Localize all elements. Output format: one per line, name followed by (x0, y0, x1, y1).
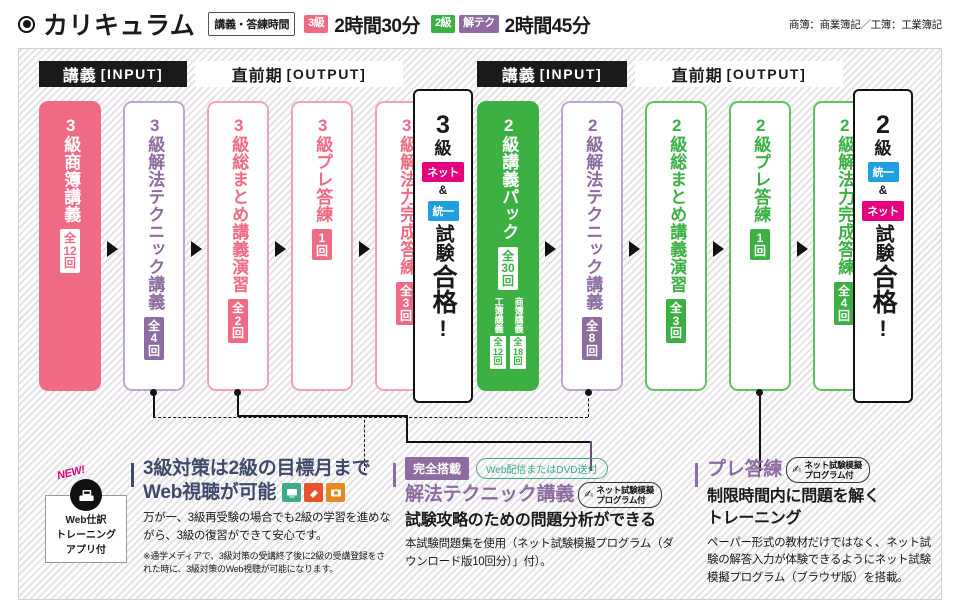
tag-row: 完全搭載 Web配信またはDVD送付 (405, 457, 683, 480)
badge-top: 全 (231, 302, 245, 315)
column-note: ※通学メディアで、3級対策の受講終了後に2級の受講登録をされた時に、3級対策のW… (143, 550, 393, 577)
card-2kyu-kaihou-technique[interactable]: 2級解法テクニック講義 全 8 回 (561, 101, 623, 391)
arrow-icon (107, 241, 118, 257)
bottom-column-web-viewing: 3級対策は2級の目標月まで Web視聴が可能 (131, 457, 393, 577)
goal-exam-label: 試験 (872, 224, 893, 262)
segment-bar-output-3kyu: 直前期 [OUTPUT] (195, 61, 403, 87)
column-title-line1: プレ答練 (707, 458, 782, 482)
connector-line (237, 415, 407, 417)
column-title-line2: Web視聴が可能 (143, 481, 276, 505)
column-body: 万が一、3級再受験の場合でも2級の学習を進めながら、3級の復習ができて安心です。 (143, 510, 393, 546)
goal-pass-label: 合格 (430, 264, 456, 314)
goal-exam-label: 試験 (432, 224, 453, 262)
segment-label-en: [OUTPUT] (727, 66, 807, 82)
connector-line (237, 393, 239, 415)
pill-line-1: ネット試験模擬 (596, 485, 653, 495)
badge-num: 1 (315, 232, 329, 245)
card-title: 3級総まとめ講義演習 (229, 116, 248, 293)
goal-grade-number: 2 (876, 113, 890, 138)
segment-label-jp: 直前期 (672, 62, 723, 86)
app-line-2: トレーニング (56, 528, 116, 543)
connector-line (153, 393, 155, 417)
column-body: ペーパー形式の教材だけではなく、ネット試験の解答入力が体験できるようにネット試験… (707, 535, 931, 588)
connector-line-dashed (153, 417, 588, 418)
segment-label-jp: 講義 (63, 62, 97, 86)
goal-ampersand: & (879, 183, 888, 197)
hand-pen-icon: ✍ (792, 465, 801, 476)
curriculum-diagram: 講義 [INPUT] 直前期 [OUTPUT] 講義 [INPUT] 直前期 [… (18, 48, 942, 600)
pill-text: ネット試験模擬 プログラム付 (804, 460, 861, 480)
page-title: カリキュラム (43, 6, 195, 42)
grade2-chip: 2級 (431, 15, 455, 33)
segment-label-jp: 講義 (502, 62, 536, 86)
badge-bottom: 回 (147, 345, 161, 358)
hand-pen-icon: ✍ (584, 490, 593, 501)
arrow-icon (359, 241, 370, 257)
goal-pass-label: 合格 (870, 264, 896, 314)
card-3kyu-soumatome[interactable]: 3級総まとめ講義演習 全 2 回 (207, 101, 269, 391)
column-subtitle-line2: トレーニング (707, 508, 931, 530)
badge-num: 4 (837, 297, 851, 310)
card-title: 3級解法テクニック講義 (145, 116, 164, 311)
card-2kyu-kougi-pack[interactable]: 2級講義パック 全 30 回 商簿講義 全 18 回 工簿講義 (477, 101, 539, 391)
card-title: 3級商簿講義 (61, 116, 80, 223)
web-media-icon (282, 483, 301, 502)
badge-bottom: 回 (585, 345, 599, 358)
column-title-line1: 3級対策は2級の目標月まで (143, 457, 393, 481)
goal-grade-unit: 級 (875, 139, 892, 159)
badge-bottom: 回 (399, 310, 413, 323)
badge-num: 3 (399, 297, 413, 310)
card-title: 2級プレ答練 (751, 116, 770, 223)
segment-label-en: [INPUT] (101, 66, 164, 82)
app-line-3: アプリ付 (66, 543, 106, 558)
legend-note: 商簿：商業簿記／工簿：工業簿記 (789, 17, 942, 32)
dvd-media-icon (326, 483, 345, 502)
pack-subitem-koubo: 工簿講義 全 12 回 (490, 297, 506, 368)
arrow-icon (797, 241, 808, 257)
badge-bottom: 回 (315, 245, 329, 258)
tag-full-support: 完全搭載 (405, 457, 469, 480)
subitem-badge: 全 18 回 (510, 336, 526, 368)
pack-subitem-shoubo: 商簿講義 全 18 回 (510, 297, 526, 368)
column-body: 本試験問題集を使用（ネット試験模擬プログラム（ダウンロード版10回分）」付）。 (405, 536, 683, 572)
column-title-line1: 解法テクニック講義 (405, 483, 574, 507)
card-3kyu-kaihou-technique[interactable]: 3級解法テクニック講義 全 4 回 (123, 101, 185, 391)
pack-subitems: 商簿講義 全 18 回 工簿講義 全 12 回 (490, 297, 526, 368)
badge-num: 8 (585, 332, 599, 345)
app-line-1: Web仕訳 (66, 513, 107, 528)
badge-bottom: 回 (63, 257, 77, 270)
pill-line-2: プログラム付 (596, 495, 653, 505)
goal-chip-touitsu: 統一 (868, 162, 899, 182)
card-count-badge: 全 2 回 (228, 299, 248, 343)
goal-chip-net: ネット (422, 162, 464, 182)
card-title: 2級総まとめ講義演習 (667, 116, 686, 293)
segment-label-en: [INPUT] (540, 66, 603, 82)
segment-label-en: [OUTPUT] (287, 66, 367, 82)
card-count-badge: 全 12 回 (60, 229, 80, 273)
card-title: 2級解法力完成答練 (835, 116, 854, 276)
card-2kyu-pre-touren[interactable]: 2級プレ答練 1 回 (729, 101, 791, 391)
arrow-icon (275, 241, 286, 257)
goal-card-3kyu: 3 級 ネット & 統一 試験 合格 ! (413, 89, 473, 403)
media-icon-group (282, 483, 345, 502)
column-rule (695, 463, 698, 487)
column-subtitle-line1: 制限時間内に問題を解く (707, 486, 931, 508)
connector-line (406, 441, 591, 443)
net-exam-pill: ✍ ネット試験模擬 プログラム付 (578, 482, 662, 508)
goal-chip-net: ネット (862, 201, 904, 221)
subitem-badge: 全 12 回 (490, 336, 506, 368)
tag-delivery-format: Web配信またはDVD送付 (476, 458, 608, 479)
goal-exclamation: ! (439, 316, 446, 342)
column-rule (131, 463, 134, 487)
card-count-badge: 全 4 回 (834, 282, 854, 326)
badge-bottom: 回 (837, 310, 851, 323)
card-title: 3級プレ答練 (313, 116, 332, 223)
page-header: カリキュラム 講義・答練時間 3級 2時間30分 2級 解テク 2時間45分 商… (0, 0, 960, 48)
pill-text: ネット試験模擬 プログラム付 (596, 485, 653, 505)
card-title: 2級講義パック (499, 116, 518, 241)
card-2kyu-soumatome[interactable]: 2級総まとめ講義演習 全 3 回 (645, 101, 707, 391)
grade2-time: 2時間45分 (505, 11, 591, 38)
card-count-badge: 全 3 回 (666, 299, 686, 343)
app-icon (70, 479, 102, 511)
column-rule (393, 463, 396, 487)
grade3-time: 2時間30分 (334, 11, 420, 38)
segment-label-jp: 直前期 (232, 62, 283, 86)
card-3kyu-pre-touren[interactable]: 3級プレ答練 1 回 (291, 101, 353, 391)
segment-bar-output-2kyu: 直前期 [OUTPUT] (635, 61, 843, 87)
arrow-icon (629, 241, 640, 257)
goal-exclamation: ! (879, 316, 886, 342)
badge-num: 30 (501, 262, 515, 275)
column-subtitle: 試験攻略のための問題分析ができる (405, 510, 683, 532)
pill-line-2: プログラム付 (804, 470, 861, 480)
segment-bar-lecture-3kyu: 講義 [INPUT] (39, 61, 187, 87)
time-label: 講義・答練時間 (208, 12, 295, 36)
net-exam-pill: ✍ ネット試験模擬 プログラム付 (786, 457, 870, 483)
badge-bottom: 回 (669, 327, 683, 340)
pill-line-1: ネット試験模擬 (804, 460, 861, 470)
badge-bottom: 回 (753, 245, 767, 258)
bullet-icon (18, 16, 35, 33)
badge-bottom: 回 (231, 327, 245, 340)
card-count-badge: 全 8 回 (582, 317, 602, 361)
arrow-icon (545, 241, 556, 257)
badge-num: 4 (147, 332, 161, 345)
audio-media-icon (304, 483, 323, 502)
goal-ampersand: & (439, 183, 448, 197)
card-count-badge: 全 4 回 (144, 317, 164, 361)
badge-top: 全 (63, 232, 77, 245)
badge-bottom: 回 (512, 357, 524, 366)
card-count-badge: 全 30 回 (498, 247, 518, 291)
card-title: 2級解法テクニック講義 (583, 116, 602, 311)
connector-dot (585, 389, 592, 396)
connector-line (406, 415, 408, 441)
arrow-icon (191, 241, 202, 257)
goal-card-2kyu: 2 級 統一 & ネット 試験 合格 ! (853, 89, 913, 403)
goal-chip-touitsu: 統一 (428, 201, 459, 221)
card-count-badge: 1 回 (750, 229, 770, 260)
card-3kyu-shoubo-kougi[interactable]: 3級商簿講義 全 12 回 (39, 101, 101, 391)
connector-line-dashed (588, 393, 589, 417)
curriculum-page: カリキュラム 講義・答練時間 3級 2時間30分 2級 解テク 2時間45分 商… (0, 0, 960, 609)
arrow-icon (713, 241, 724, 257)
grade3-chip: 3級 (304, 15, 328, 33)
tech-chip: 解テク (459, 15, 499, 33)
subitem-label: 商簿講義 (513, 297, 522, 333)
bottom-column-pre-touren: プレ答練 ✍ ネット試験模擬 プログラム付 制限時間内に問題を解く トレーニング… (695, 457, 931, 588)
badge-top: 全 (669, 302, 683, 315)
goal-grade-unit: 級 (435, 139, 452, 159)
badge-bottom: 回 (501, 275, 515, 288)
badge-bottom: 回 (492, 357, 504, 366)
subitem-label: 工簿講義 (493, 297, 502, 333)
bottom-column-kaihou-technique: 完全搭載 Web配信またはDVD送付 解法テクニック講義 ✍ ネット試験模擬 プ… (393, 457, 683, 572)
goal-grade-number: 3 (436, 113, 450, 138)
card-count-badge: 1 回 (312, 229, 332, 260)
segment-bar-lecture-2kyu: 講義 [INPUT] (477, 61, 627, 87)
badge-num: 1 (753, 232, 767, 245)
